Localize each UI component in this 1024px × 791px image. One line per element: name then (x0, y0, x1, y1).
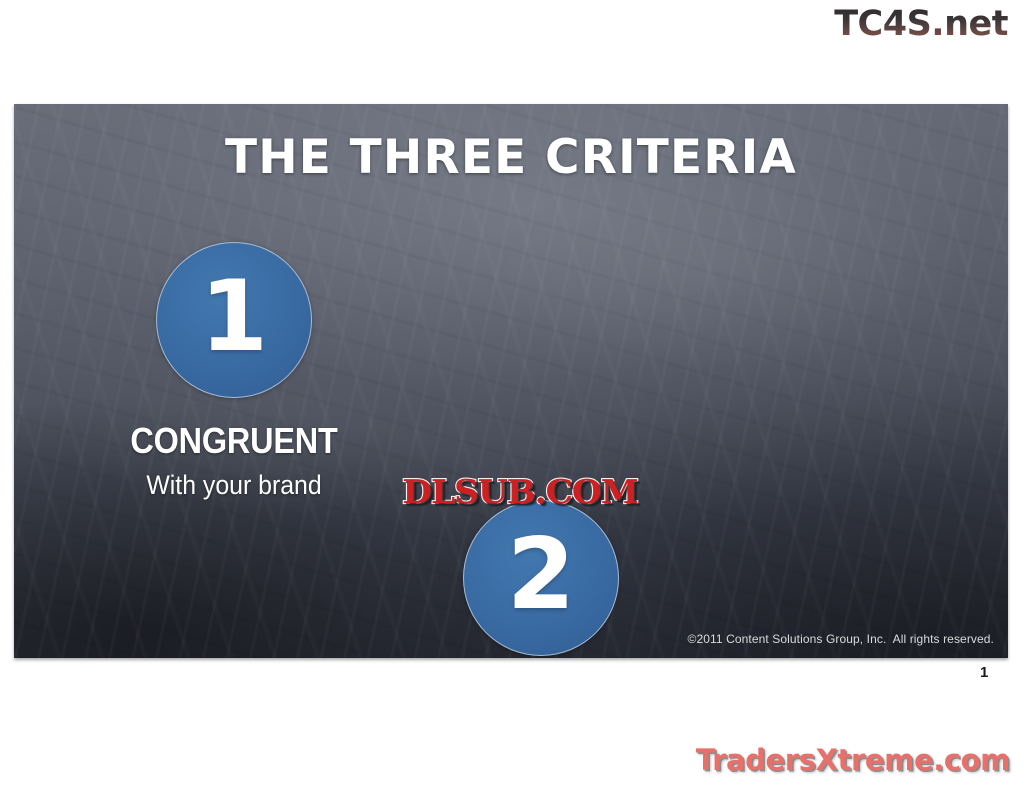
page-title: THE THREE CRITERIA (14, 130, 1008, 185)
tradersxtreme-brand-logo: TradersXtreme.com (696, 743, 1010, 777)
badge-number: 2 (507, 526, 575, 624)
number-badge-1: 1 (156, 242, 312, 398)
criteria-heading: CONGRUENT (104, 420, 365, 462)
presentation-slide: THE THREE CRITERIA 1 CONGRUENT With your… (14, 104, 1008, 658)
page-number: 1 (980, 664, 988, 681)
dlsub-watermark: DLSUB.COM (370, 472, 670, 511)
number-badge-2: 2 (463, 500, 619, 656)
badge-number: 1 (200, 268, 268, 366)
tc4s-brand-logo: TC4S.net (834, 2, 1008, 46)
criteria-column-2: 2 CONNECTS With your audience (396, 500, 686, 658)
criteria-column-1: 1 CONGRUENT With your brand (89, 242, 379, 500)
criteria-subtext: With your brand (101, 471, 368, 500)
copyright-notice: ©2011 Content Solutions Group, Inc. All … (688, 632, 994, 646)
